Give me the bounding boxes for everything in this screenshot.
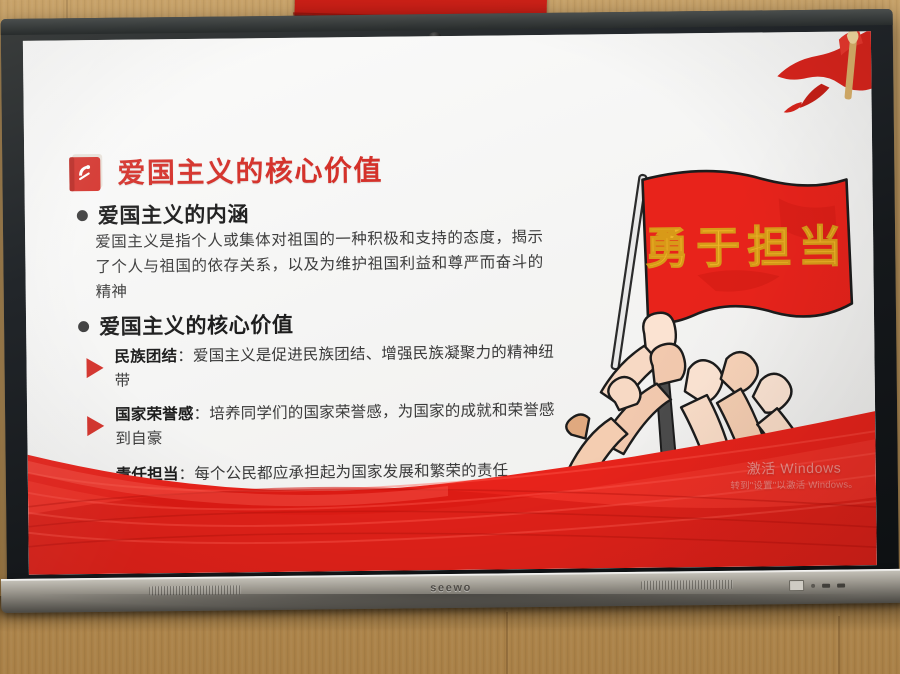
- slide-title-row: 爱国主义的核心价值: [68, 149, 383, 193]
- flag-text: 勇于担当: [645, 222, 850, 273]
- display-stand-shadow: [40, 594, 860, 608]
- red-flag-torch-icon: [743, 31, 876, 134]
- section-heading-label: 爱国主义的核心价值: [99, 309, 294, 341]
- port-slot-icon[interactable]: [837, 583, 845, 587]
- list-item-term: 民族团结: [114, 348, 177, 366]
- display-screen[interactable]: 爱国主义的核心价值 爱国主义的内涵 爱国主义是指个人或集体对祖国的一种积极和支持…: [23, 31, 877, 575]
- speaker-grille: [641, 580, 733, 590]
- red-triangle-icon: [86, 358, 103, 378]
- round-bullet-icon: [78, 321, 89, 332]
- section-heading-core-values: 爱国主义的核心价值: [78, 309, 294, 341]
- page-title: 爱国主义的核心价值: [117, 149, 383, 192]
- presentation-slide: 爱国主义的核心价值 爱国主义的内涵 爱国主义是指个人或集体对祖国的一种积极和支持…: [23, 31, 877, 575]
- list-item: 民族团结：爱国主义是促进民族团结、增强民族凝聚力的精神纽带: [86, 341, 557, 395]
- round-bullet-icon: [77, 210, 88, 221]
- interactive-display[interactable]: 爱国主义的核心价值 爱国主义的内涵 爱国主义是指个人或集体对祖国的一种积极和支持…: [1, 9, 900, 621]
- port-indicator-icon: [811, 583, 815, 587]
- brand-logo: seewo: [405, 581, 497, 594]
- section-heading-inner-meaning: 爱国主义的内涵: [77, 198, 250, 230]
- port-panel[interactable]: [789, 580, 845, 592]
- section-paragraph: 爱国主义是指个人或集体对祖国的一种积极和支持的态度，揭示了个人与祖国的依存关系，…: [95, 225, 544, 305]
- classroom-photo-scene: 爱国主义的核心价值 爱国主义的内涵 爱国主义是指个人或集体对祖国的一种积极和支持…: [0, 0, 900, 674]
- party-book-emblem-icon: [68, 152, 104, 191]
- usb-port-icon[interactable]: [789, 580, 804, 591]
- section-heading-label: 爱国主义的内涵: [98, 198, 250, 230]
- list-item-separator: ：: [177, 348, 193, 365]
- red-silk-ribbon: [27, 405, 877, 575]
- port-slot-icon[interactable]: [822, 583, 830, 587]
